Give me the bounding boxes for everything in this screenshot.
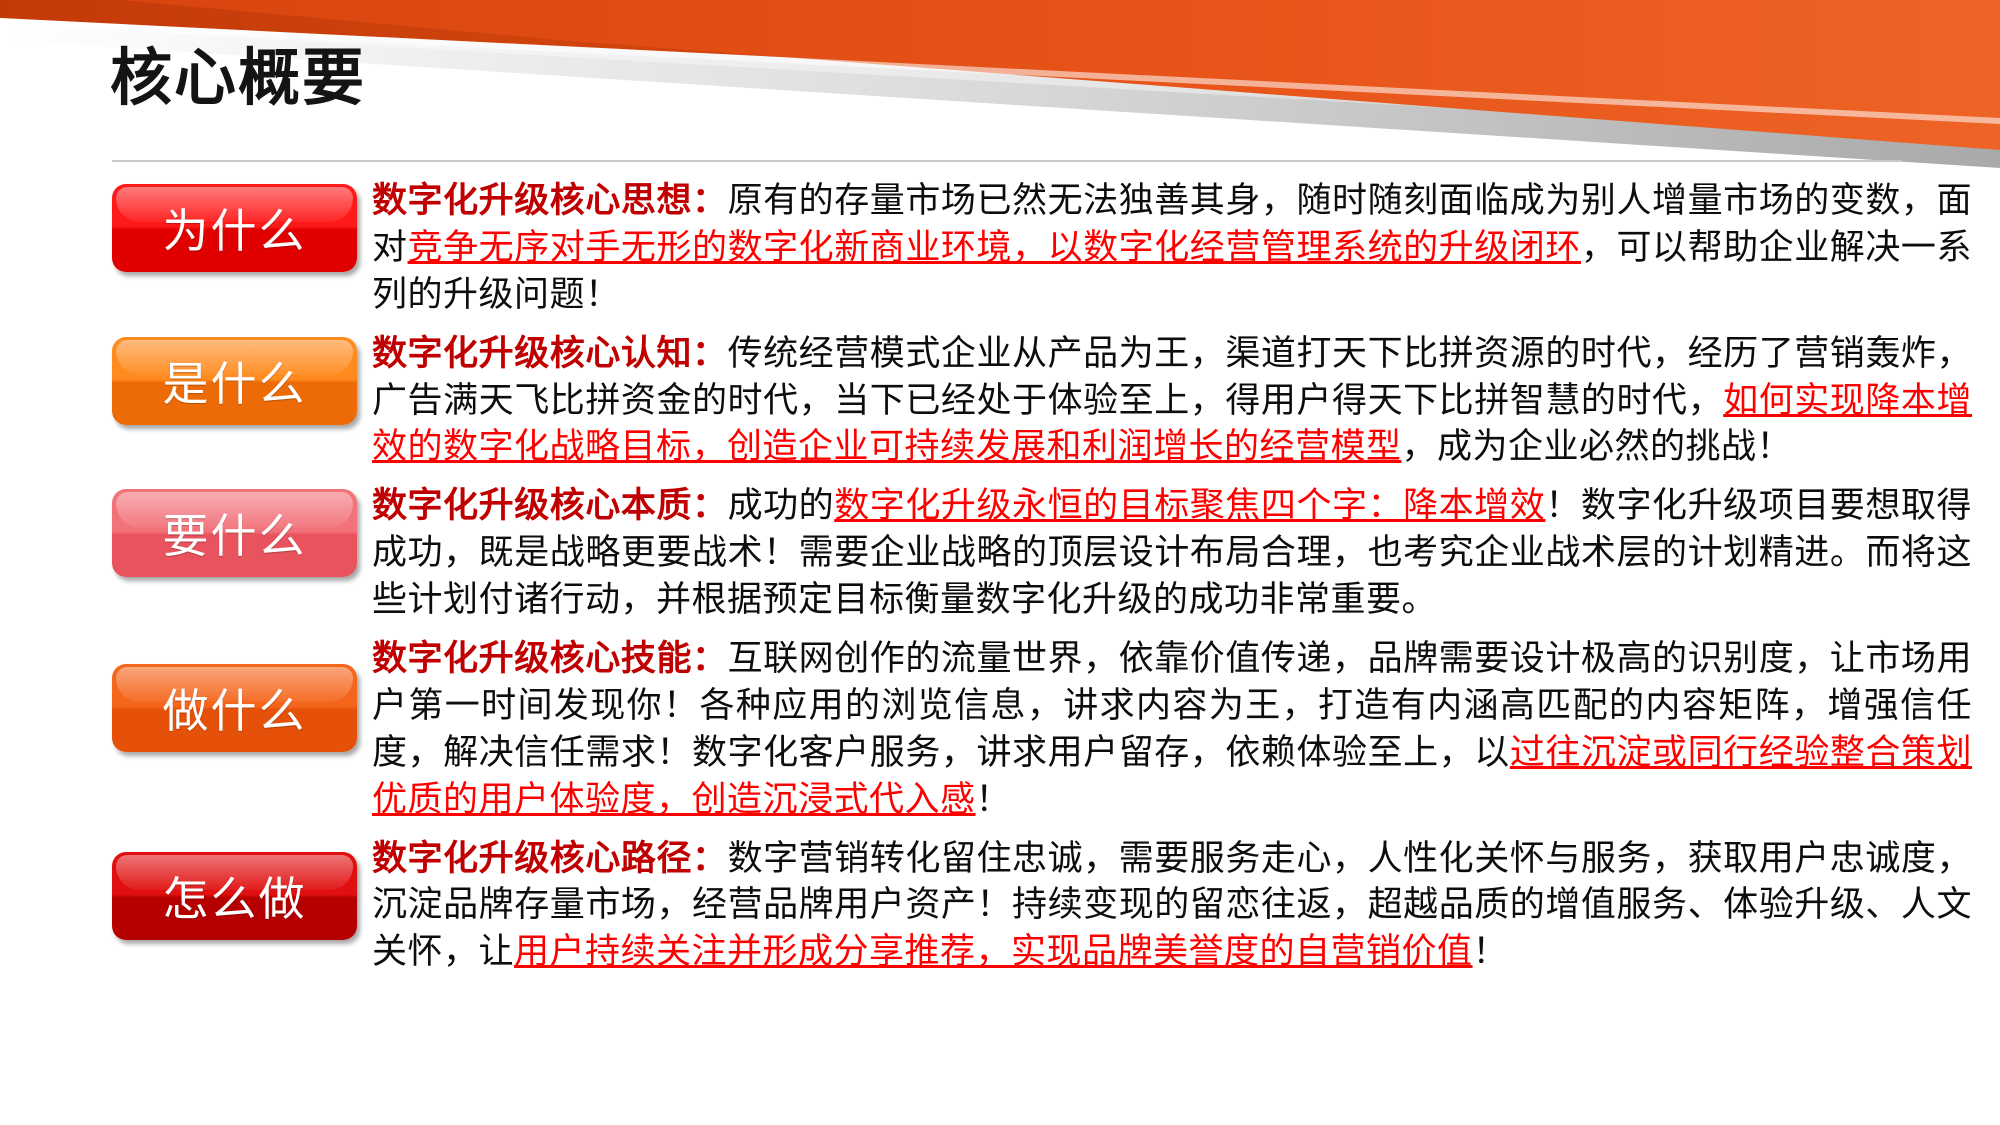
badge-what[interactable]: 是什么	[112, 337, 357, 425]
paragraph-lead: 数字化升级核心本质：	[372, 486, 728, 526]
paragraph-do: 数字化升级核心技能：互联网创作的流量世界，依靠价值传递，品牌需要设计极高的识别度…	[372, 636, 1972, 824]
paragraph-lead: 数字化升级核心路径：	[372, 839, 728, 879]
paragraph-what: 数字化升级核心认知：传统经营模式企业从产品为王，渠道打天下比拼资源的时代，经历了…	[372, 331, 1972, 472]
paragraph-text: ，成为企业必然的挑战！	[1402, 427, 1793, 467]
paragraph-text: ！	[1473, 932, 1509, 972]
paragraph-highlight: 竞争无序对手无形的数字化新商业环境，以数字化经营管理系统的升级闭环	[408, 228, 1581, 268]
page-title-wrap: 核心概要	[110, 45, 1910, 110]
paragraph-highlight: 数字化升级永恒的目标聚焦四个字：降本增效	[834, 486, 1545, 526]
page-title: 核心概要	[110, 45, 1910, 110]
badge-need[interactable]: 要什么	[112, 489, 357, 577]
paragraph-lead: 数字化升级核心思想：	[372, 181, 728, 221]
content-row: 是什么 数字化升级核心认知：传统经营模式企业从产品为王，渠道打天下比拼资源的时代…	[0, 331, 2000, 472]
badge-do[interactable]: 做什么	[112, 664, 357, 752]
badge-why[interactable]: 为什么	[112, 184, 357, 272]
paragraph-how: 数字化升级核心路径：数字营销转化留住忠诚，需要服务走心，人性化关怀与服务，获取用…	[372, 836, 1972, 977]
paragraph-lead: 数字化升级核心技能：	[372, 639, 728, 679]
paragraph-text: ！	[976, 780, 1012, 820]
content-row: 做什么 数字化升级核心技能：互联网创作的流量世界，依靠价值传递，品牌需要设计极高…	[0, 636, 2000, 824]
badge-label: 是什么	[163, 348, 307, 414]
content-row: 怎么做 数字化升级核心路径：数字营销转化留住忠诚，需要服务走心，人性化关怀与服务…	[0, 836, 2000, 977]
paragraph-text: 成功的	[728, 486, 835, 526]
badge-label: 做什么	[163, 675, 307, 741]
badge-label: 为什么	[163, 195, 307, 261]
badge-how[interactable]: 怎么做	[112, 852, 357, 940]
badge-label: 怎么做	[163, 863, 307, 929]
paragraph-lead: 数字化升级核心认知：	[372, 334, 728, 374]
paragraph-need: 数字化升级核心本质：成功的数字化升级永恒的目标聚焦四个字：降本增效！数字化升级项…	[372, 483, 1972, 624]
content-row: 要什么 数字化升级核心本质：成功的数字化升级永恒的目标聚焦四个字：降本增效！数字…	[0, 483, 2000, 624]
title-divider	[112, 160, 1902, 162]
content-list: 为什么 数字化升级核心思想：原有的存量市场已然无法独善其身，随时随刻面临成为别人…	[0, 178, 2000, 988]
paragraph-highlight: 用户持续关注并形成分享推荐，实现品牌美誉度的自营销价值	[514, 932, 1473, 972]
content-row: 为什么 数字化升级核心思想：原有的存量市场已然无法独善其身，随时随刻面临成为别人…	[0, 178, 2000, 319]
badge-label: 要什么	[163, 500, 307, 566]
paragraph-why: 数字化升级核心思想：原有的存量市场已然无法独善其身，随时随刻面临成为别人增量市场…	[372, 178, 1972, 319]
